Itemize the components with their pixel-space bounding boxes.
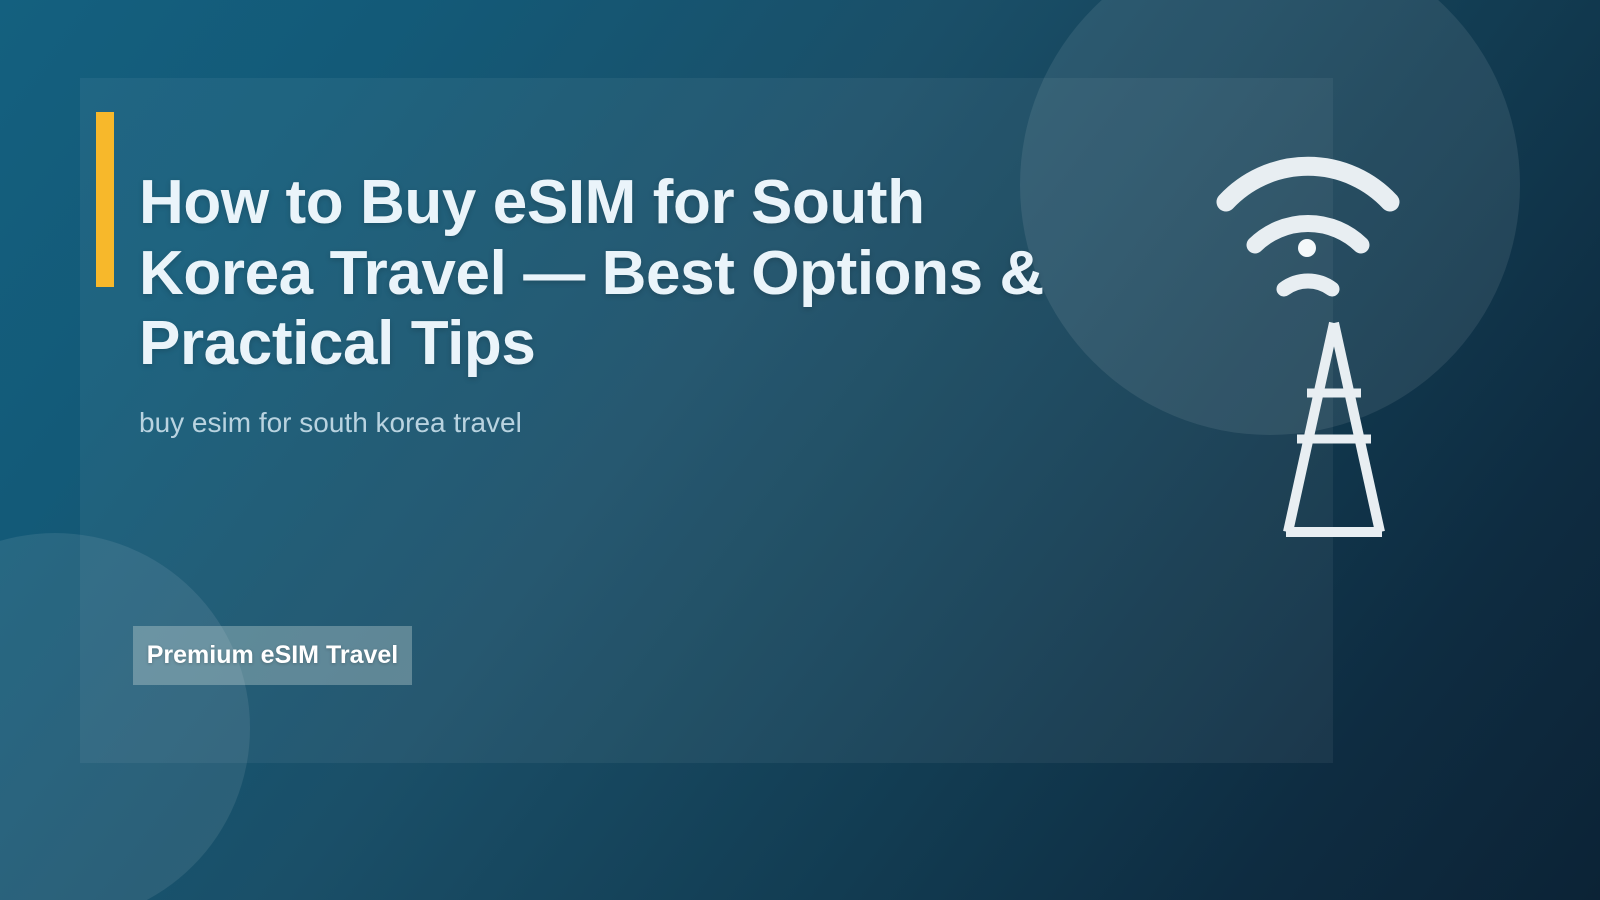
status-badge-label: Premium eSIM Travel: [147, 641, 399, 670]
slide-subtitle: buy esim for south korea travel: [139, 406, 1114, 440]
wifi-arc-outer-icon: [1226, 166, 1390, 202]
broadcast-tower-icon: [1208, 140, 1408, 550]
accent-bar: [96, 112, 114, 287]
tower-leg-right-icon: [1334, 323, 1380, 532]
slide-text-block: How to Buy eSIM for South Korea Travel —…: [139, 168, 1114, 440]
wifi-arc-inner-icon: [1284, 281, 1332, 289]
decorative-circle-bottom-left-icon: [0, 533, 250, 900]
page-title: How to Buy eSIM for South Korea Travel —…: [139, 168, 1114, 380]
status-badge: Premium eSIM Travel: [133, 626, 412, 685]
wifi-dot: [1298, 239, 1316, 257]
tower-leg-left-icon: [1288, 323, 1334, 532]
title-slide: How to Buy eSIM for South Korea Travel —…: [0, 0, 1600, 900]
wifi-arc-middle-icon: [1255, 223, 1361, 245]
